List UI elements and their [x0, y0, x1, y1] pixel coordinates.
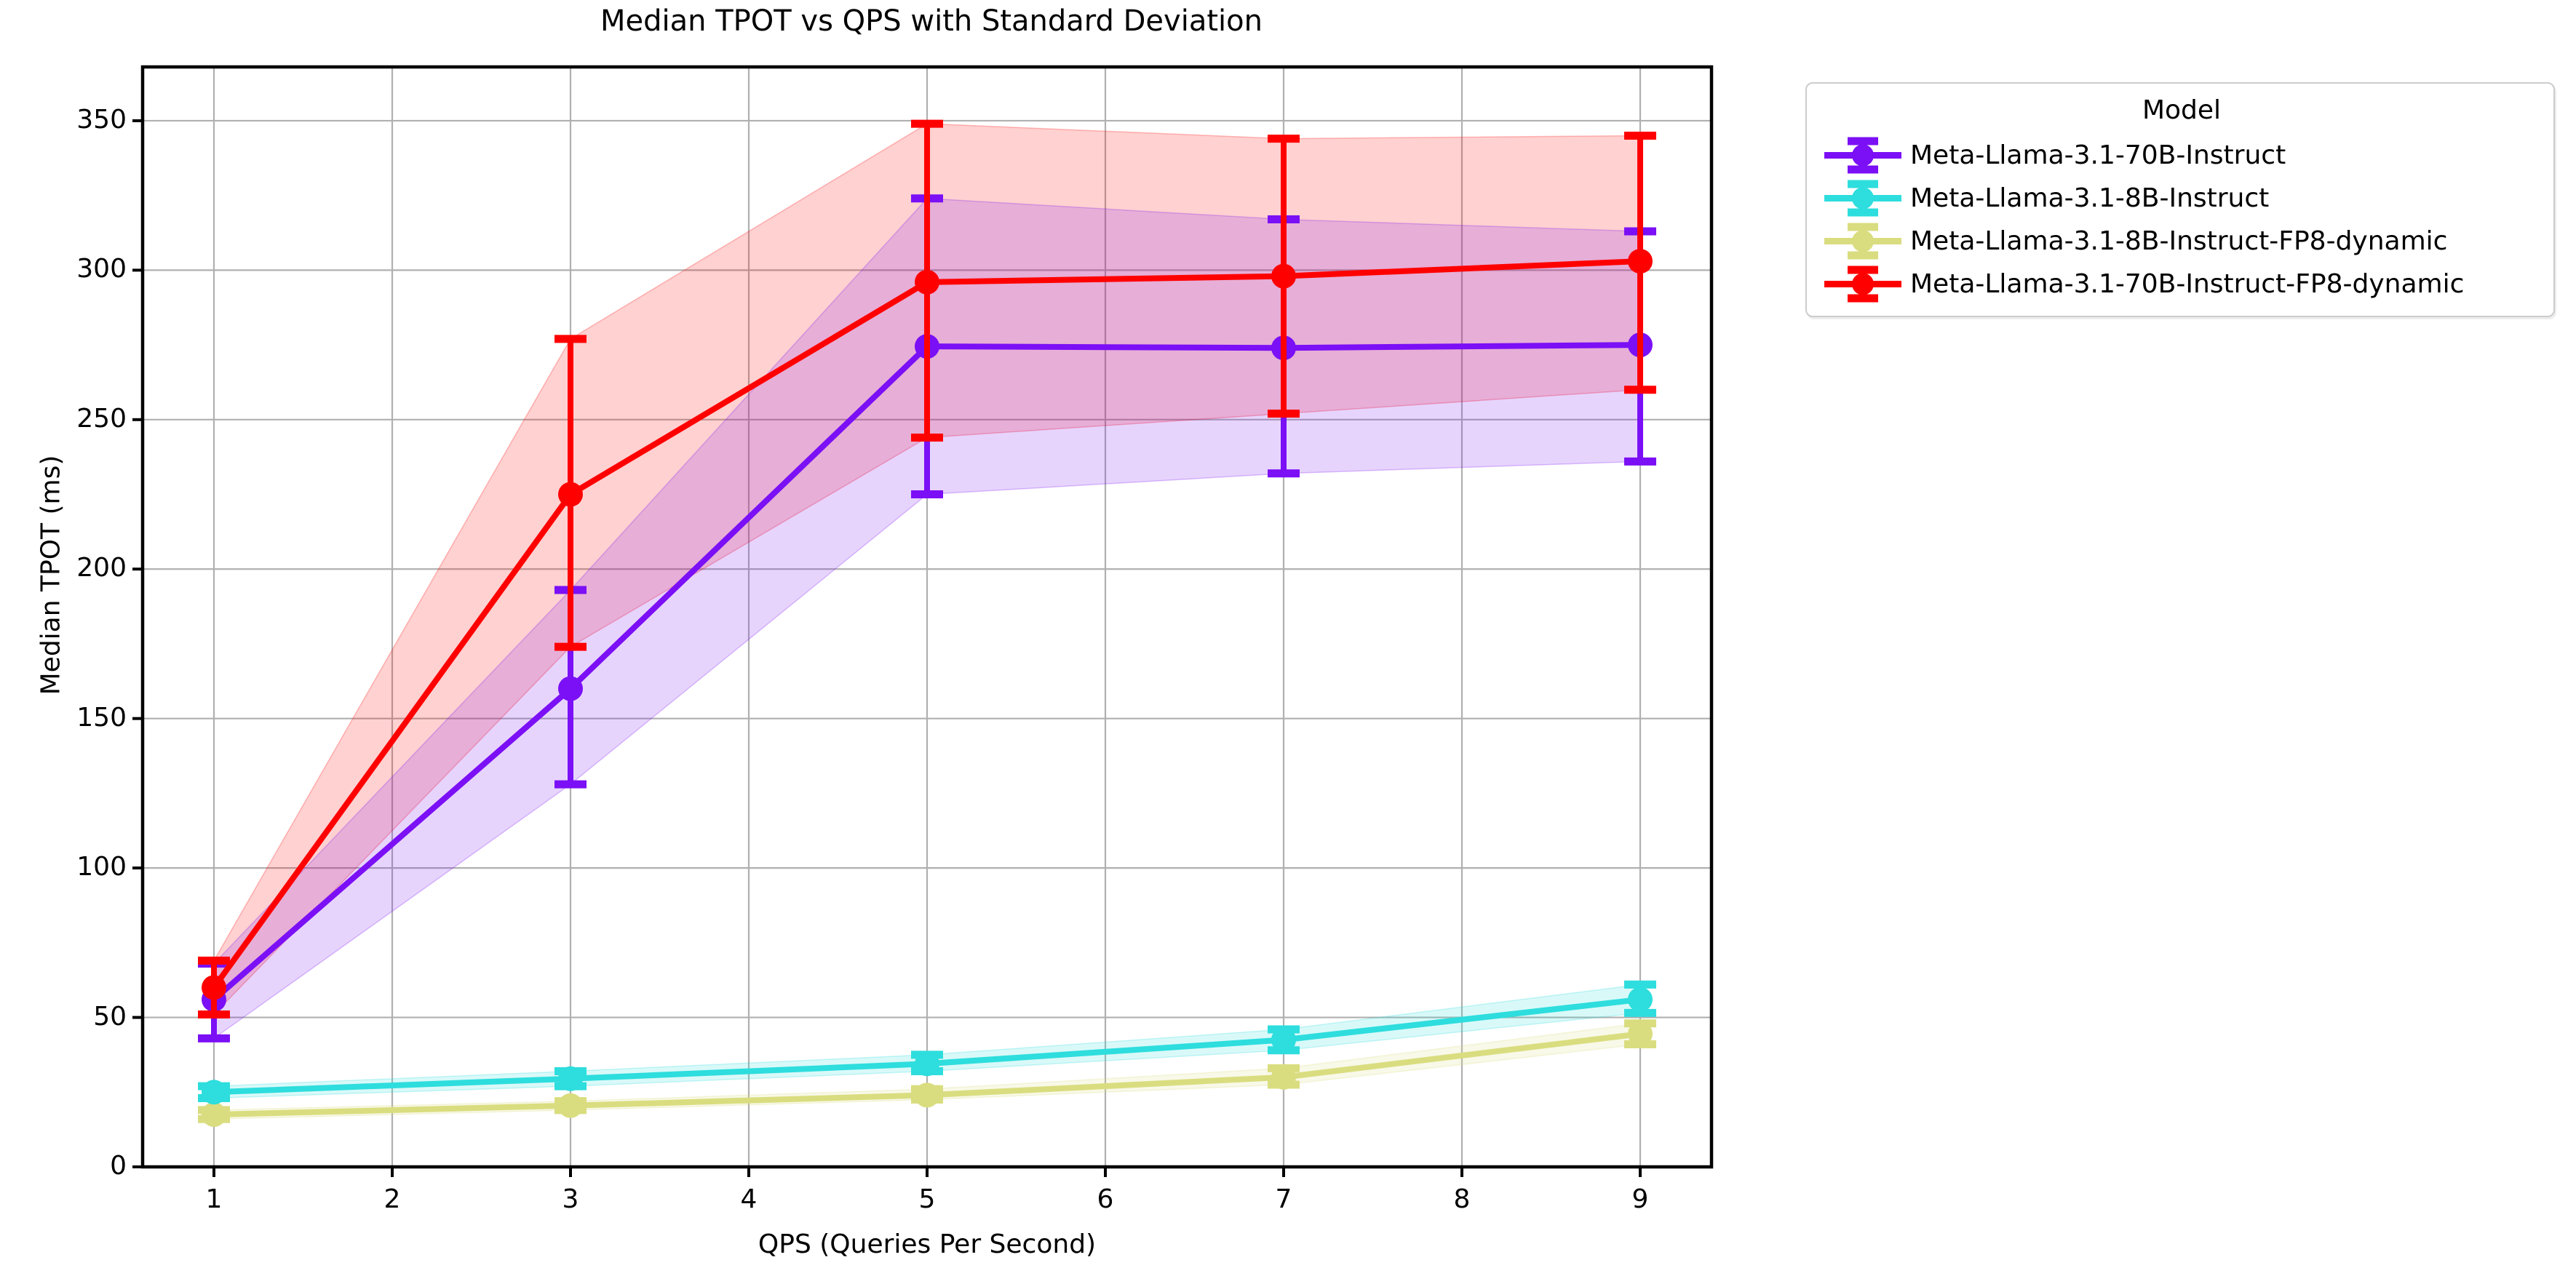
- y-tick-label: 50: [17, 1002, 127, 1032]
- x-tick-label: 4: [705, 1184, 792, 1214]
- legend-marker-dot: [1852, 145, 1874, 167]
- data-point-marker: [915, 1051, 939, 1076]
- data-point-marker: [915, 270, 939, 295]
- data-point-marker: [558, 482, 583, 507]
- x-tick-label: 3: [527, 1184, 614, 1214]
- data-point-marker: [558, 1066, 583, 1091]
- data-point-marker: [1271, 1027, 1296, 1052]
- legend-marker-dot: [1852, 231, 1874, 252]
- data-point-marker: [558, 1093, 583, 1118]
- legend-item[interactable]: Meta-Llama-3.1-70B-Instruct-FP8-dynamic: [1820, 263, 2464, 305]
- y-tick-label: 200: [17, 553, 127, 583]
- legend-item-label: Meta-Llama-3.1-70B-Instruct-FP8-dynamic: [1906, 269, 2464, 299]
- x-tick-label: 8: [1418, 1184, 1506, 1214]
- legend-marker-icon: [1820, 263, 1906, 305]
- legend-marker-dot: [1852, 188, 1874, 210]
- figure-canvas: Median TPOT vs QPS with Standard Deviati…: [0, 0, 2576, 1284]
- y-tick-label: 100: [17, 852, 127, 882]
- legend-marker-icon: [1820, 178, 1906, 219]
- y-tick-label: 150: [17, 703, 127, 733]
- legend-item-label: Meta-Llama-3.1-8B-Instruct: [1906, 183, 2269, 213]
- legend-item[interactable]: Meta-Llama-3.1-8B-Instruct: [1820, 178, 2269, 219]
- data-point-marker: [202, 975, 226, 1000]
- data-point-marker: [558, 677, 583, 701]
- data-point-marker: [915, 1082, 939, 1107]
- legend-item-label: Meta-Llama-3.1-70B-Instruct: [1906, 140, 2286, 170]
- data-point-marker: [1271, 264, 1296, 289]
- legend-item-label: Meta-Llama-3.1-8B-Instruct-FP8-dynamic: [1906, 226, 2447, 256]
- legend[interactable]: Model Meta-Llama-3.1-70B-InstructMeta-Ll…: [1805, 82, 2555, 317]
- x-axis-label: QPS (Queries Per Second): [143, 1229, 1712, 1259]
- data-point-marker: [1628, 1021, 1653, 1046]
- x-tick-label: 7: [1240, 1184, 1327, 1214]
- legend-marker-icon: [1820, 135, 1906, 176]
- legend-title: Model: [1807, 95, 2556, 125]
- data-point-marker: [1628, 249, 1653, 274]
- data-point-marker: [1271, 1065, 1296, 1090]
- y-tick-label: 250: [17, 404, 127, 434]
- x-tick-label: 1: [170, 1184, 258, 1214]
- x-tick-label: 2: [349, 1184, 436, 1214]
- x-tick-label: 5: [883, 1184, 971, 1214]
- x-tick-label: 9: [1597, 1184, 1684, 1214]
- legend-marker-dot: [1852, 274, 1874, 295]
- data-point-marker: [202, 1080, 226, 1104]
- y-tick-label: 350: [17, 105, 127, 135]
- x-tick-label: 6: [1062, 1184, 1149, 1214]
- data-point-marker: [1628, 987, 1653, 1012]
- y-tick-label: 0: [17, 1151, 127, 1181]
- y-tick-label: 300: [17, 254, 127, 284]
- legend-marker-icon: [1820, 220, 1906, 262]
- legend-item[interactable]: Meta-Llama-3.1-70B-Instruct: [1820, 135, 2286, 176]
- data-point-marker: [202, 1102, 226, 1127]
- legend-item[interactable]: Meta-Llama-3.1-8B-Instruct-FP8-dynamic: [1820, 220, 2447, 262]
